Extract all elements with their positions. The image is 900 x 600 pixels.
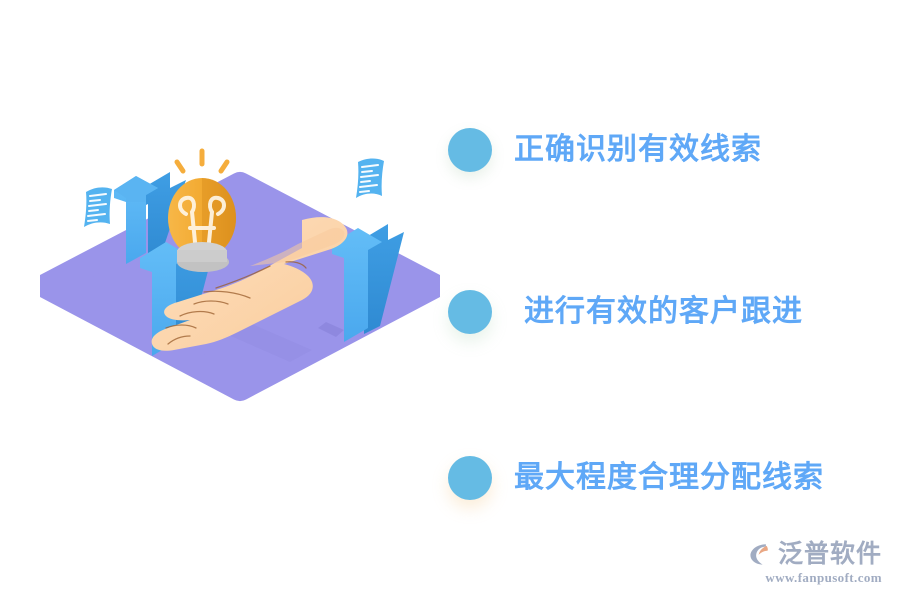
bullet-item-2[interactable]: 进行有效的客户跟进 — [440, 282, 803, 342]
brand-watermark: 泛普软件 www.fanpusoft.com — [748, 541, 882, 586]
bullet-label: 正确识别有效线索 — [514, 135, 762, 165]
feature-bullet-list: 正确识别有效线索 进行有效的客户跟进 最大程度合理分配线索 — [440, 100, 880, 520]
bullet-item-1[interactable]: 正确识别有效线索 — [440, 120, 762, 180]
lightbulb — [168, 151, 236, 272]
bulb-base — [177, 242, 229, 272]
document-left — [84, 187, 112, 227]
spark-rays — [177, 151, 227, 171]
fanpu-logo-icon — [748, 541, 774, 567]
bullet-label: 进行有效的客户跟进 — [524, 297, 803, 327]
bullet-dot-icon — [448, 128, 492, 172]
brand-name: 泛普软件 — [778, 542, 882, 567]
illustration-hand-holding-lightbulb — [40, 140, 440, 440]
bullet-label: 最大程度合理分配线索 — [514, 463, 824, 493]
document-right — [356, 158, 384, 198]
bullet-item-3[interactable]: 最大程度合理分配线索 — [440, 448, 824, 508]
bullet-dot-icon — [448, 456, 492, 500]
poster-canvas: 正确识别有效线索 进行有效的客户跟进 最大程度合理分配线索 泛普软件 www.f… — [0, 0, 900, 600]
logo-row: 泛普软件 — [748, 541, 882, 567]
brand-url: www.fanpusoft.com — [765, 570, 882, 586]
bullet-dot-icon — [448, 290, 492, 334]
